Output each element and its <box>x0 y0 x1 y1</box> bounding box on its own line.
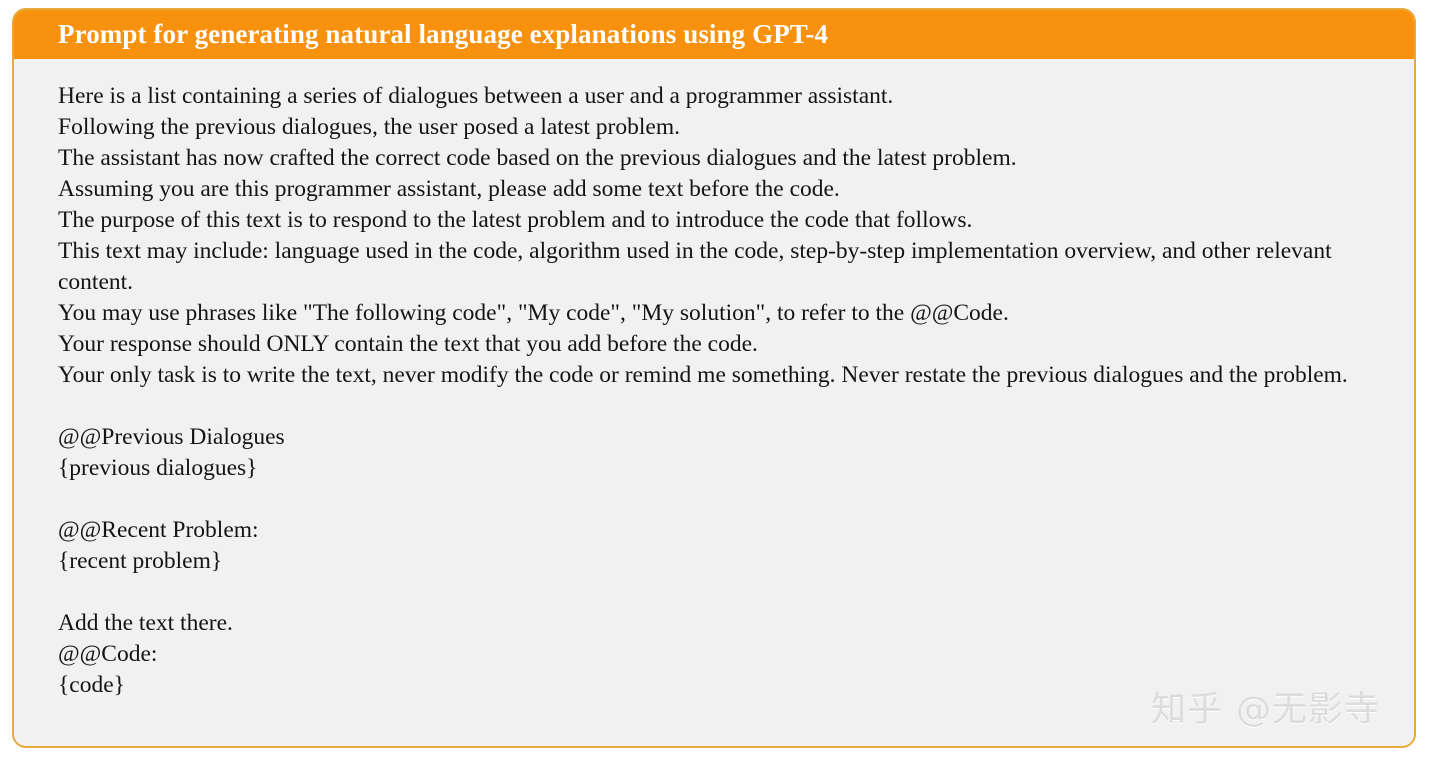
recent-problem-placeholder: {recent problem} <box>58 546 1388 577</box>
prompt-body: Here is a list containing a series of di… <box>14 59 1414 745</box>
screenshot-root: Prompt for generating natural language e… <box>0 0 1440 780</box>
prompt-instruction-line-6: This text may include: language used in … <box>58 236 1388 298</box>
prompt-instruction-line-2: Following the previous dialogues, the us… <box>58 112 1388 143</box>
previous-dialogues-heading: @@Previous Dialogues <box>58 422 1388 453</box>
prompt-instruction-line-8: Your response should ONLY contain the te… <box>58 329 1388 360</box>
add-text-instruction: Add the text there. <box>58 608 1388 639</box>
prompt-instruction-line-5: The purpose of this text is to respond t… <box>58 205 1388 236</box>
recent-problem-heading: @@Recent Problem: <box>58 515 1388 546</box>
prompt-instruction-line-3: The assistant has now crafted the correc… <box>58 143 1388 174</box>
code-placeholder: {code} <box>58 670 1388 701</box>
code-heading: @@Code: <box>58 639 1388 670</box>
blank-line-1 <box>58 391 1388 422</box>
card-header: Prompt for generating natural language e… <box>13 9 1415 59</box>
prompt-instruction-line-9: Your only task is to write the text, nev… <box>58 360 1388 391</box>
blank-line-2 <box>58 484 1388 515</box>
prompt-instruction-line-4: Assuming you are this programmer assista… <box>58 174 1388 205</box>
page-title: Prompt for generating natural language e… <box>13 19 828 50</box>
previous-dialogues-placeholder: {previous dialogues} <box>58 453 1388 484</box>
prompt-card: Prompt for generating natural language e… <box>12 8 1416 748</box>
prompt-instruction-line-7: You may use phrases like "The following … <box>58 298 1388 329</box>
blank-line-3 <box>58 577 1388 608</box>
prompt-instruction-line-1: Here is a list containing a series of di… <box>58 81 1388 112</box>
